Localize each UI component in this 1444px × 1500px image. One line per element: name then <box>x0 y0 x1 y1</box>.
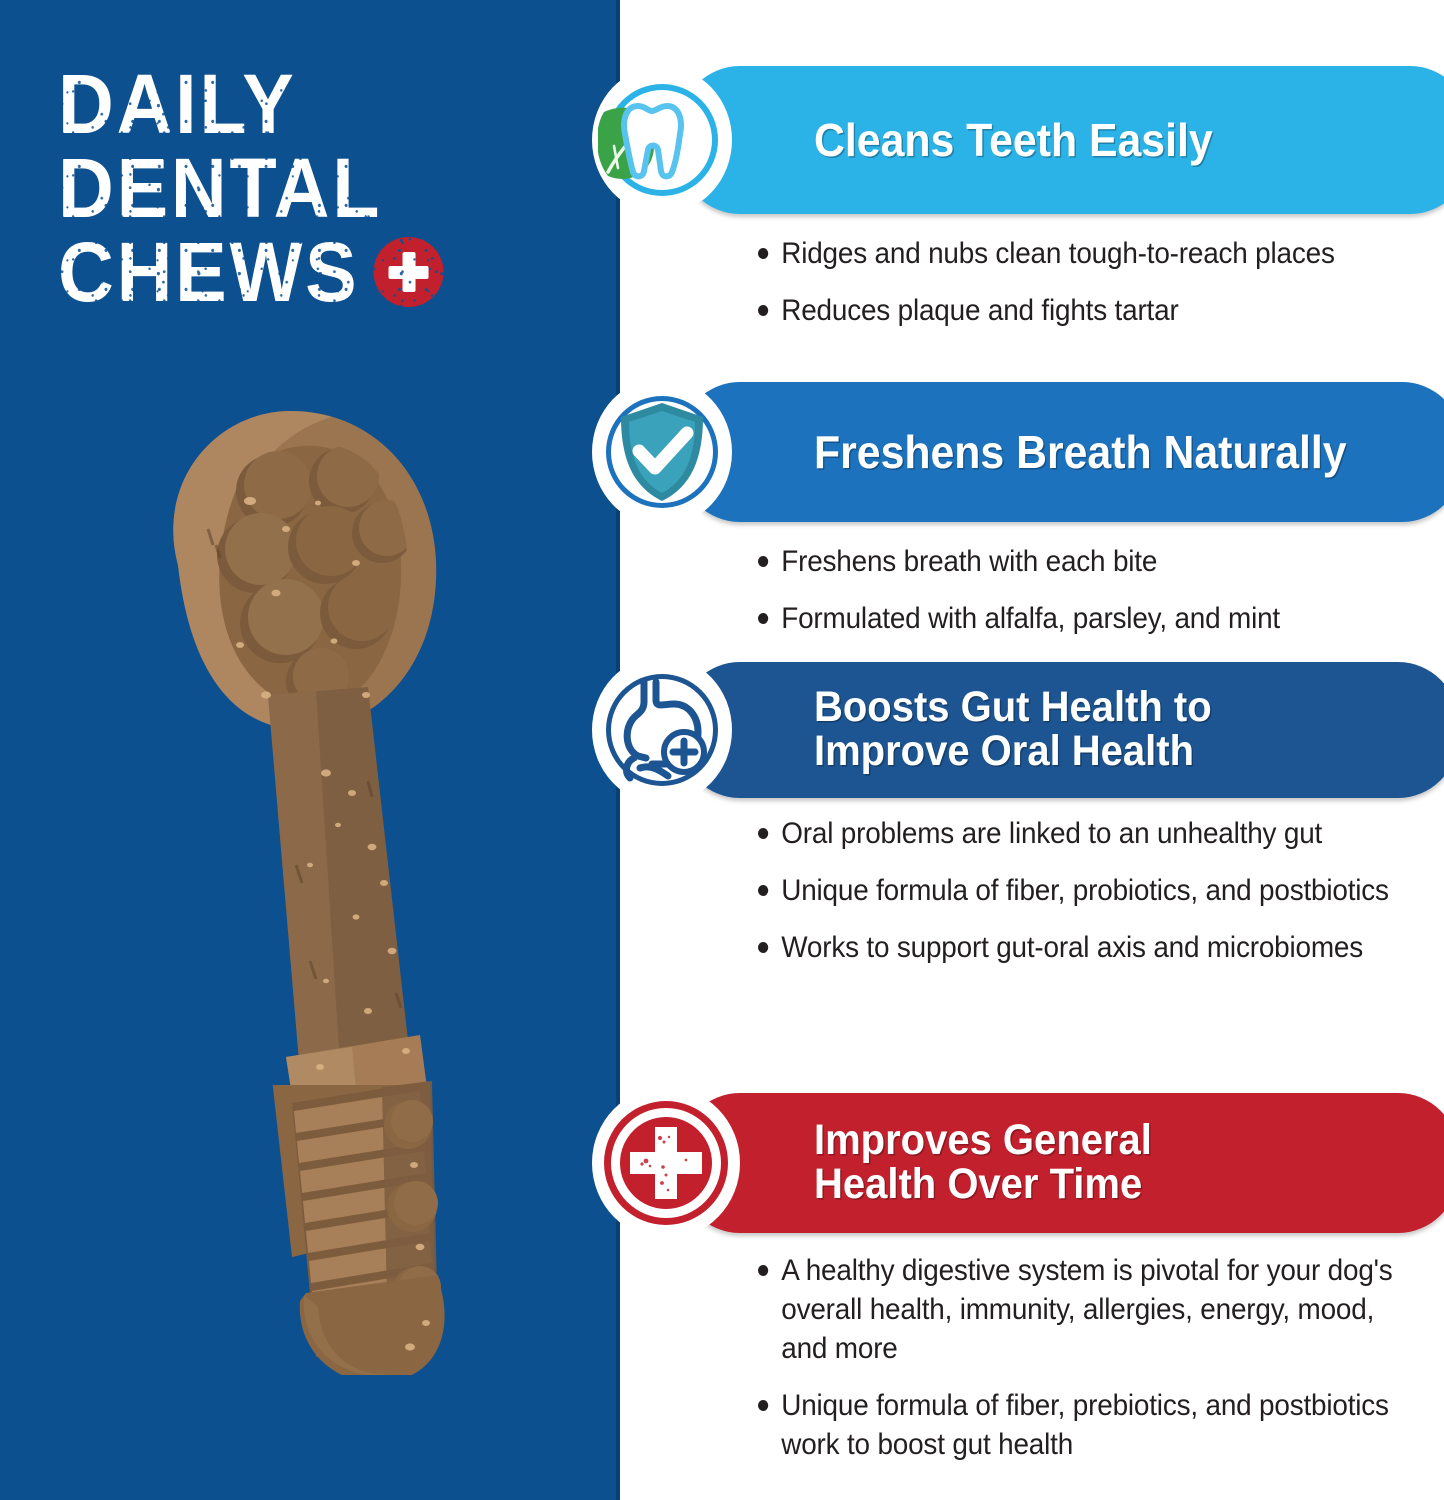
feature-title-general-health: Improves General Health Over Time <box>814 1119 1152 1207</box>
list-item: A healthy digestive system is pivotal fo… <box>758 1251 1400 1368</box>
list-item: Unique formula of fiber, probiotics, and… <box>758 871 1400 910</box>
feature-title-cleans-teeth: Cleans Teeth Easily <box>814 117 1213 164</box>
feature-title-line-1: Improves General <box>814 1116 1152 1164</box>
bullet-dot <box>758 885 768 896</box>
feature-bullets-freshens-breath: Freshens breath with each bite Formulate… <box>758 542 1444 656</box>
feature-header-bar-general-health[interactable]: Improves General Health Over Time <box>680 1093 1444 1233</box>
feature-title-freshens-breath: Freshens Breath Naturally <box>814 429 1347 476</box>
feature-title-gut-health: Boosts Gut Health to Improve Oral Health <box>814 686 1212 774</box>
list-item: Freshens breath with each bite <box>758 542 1400 581</box>
infographic-page: DAILY DENTAL CHEWS <box>0 0 1444 1500</box>
bullet-dot <box>758 1400 768 1411</box>
title-line-2: DENTAL <box>58 146 555 230</box>
feature-title-line-2: Health Over Time <box>814 1160 1142 1208</box>
bullet-dot <box>758 942 768 953</box>
feature-header-bar-cleans-teeth[interactable]: Cleans Teeth Easily <box>680 66 1444 214</box>
page-title: DAILY DENTAL CHEWS <box>58 62 598 314</box>
feature-bullets-general-health: A healthy digestive system is pivotal fo… <box>758 1251 1444 1482</box>
bullet-dot <box>758 305 768 316</box>
medical-cross-icon <box>592 1087 740 1239</box>
bullet-dot <box>758 828 768 839</box>
list-item: Works to support gut-oral axis and micro… <box>758 928 1400 967</box>
title-line-1: DAILY <box>58 62 555 146</box>
bullet-dot <box>758 556 768 567</box>
feature-header-bar-gut-health[interactable]: Boosts Gut Health to Improve Oral Health <box>680 662 1444 798</box>
feature-header-bar-freshens-breath[interactable]: Freshens Breath Naturally <box>680 382 1444 522</box>
list-item: Unique formula of fiber, prebiotics, and… <box>758 1386 1400 1464</box>
shield-check-icon <box>592 378 732 526</box>
tooth-with-mint-leaf-icon <box>592 66 732 214</box>
list-item: Formulated with alfalfa, parsley, and mi… <box>758 599 1400 638</box>
feature-title-line-1: Boosts Gut Health to <box>814 683 1212 731</box>
bullet-dot <box>758 613 768 624</box>
feature-bullets-gut-health: Oral problems are linked to an unhealthy… <box>758 814 1444 985</box>
stomach-plus-icon <box>592 656 732 804</box>
bullet-dot <box>758 248 768 259</box>
list-item: Reduces plaque and fights tartar <box>758 291 1400 330</box>
plus-glyph <box>388 252 428 292</box>
title-line-3-row: CHEWS <box>58 230 555 314</box>
feature-title-line-2: Improve Oral Health <box>814 727 1194 775</box>
dog-dental-chew-toy-image <box>120 395 540 1375</box>
feature-bullets-cleans-teeth: Ridges and nubs clean tough-to-reach pla… <box>758 234 1444 348</box>
list-item: Oral problems are linked to an unhealthy… <box>758 814 1400 853</box>
title-line-3: CHEWS <box>58 230 359 314</box>
features-column: Cleans Teeth Easily Ridges and nubs clea… <box>622 0 1444 1500</box>
list-item: Ridges and nubs clean tough-to-reach pla… <box>758 234 1400 273</box>
red-plus-badge-icon <box>373 237 443 307</box>
bullet-dot <box>758 1265 768 1276</box>
